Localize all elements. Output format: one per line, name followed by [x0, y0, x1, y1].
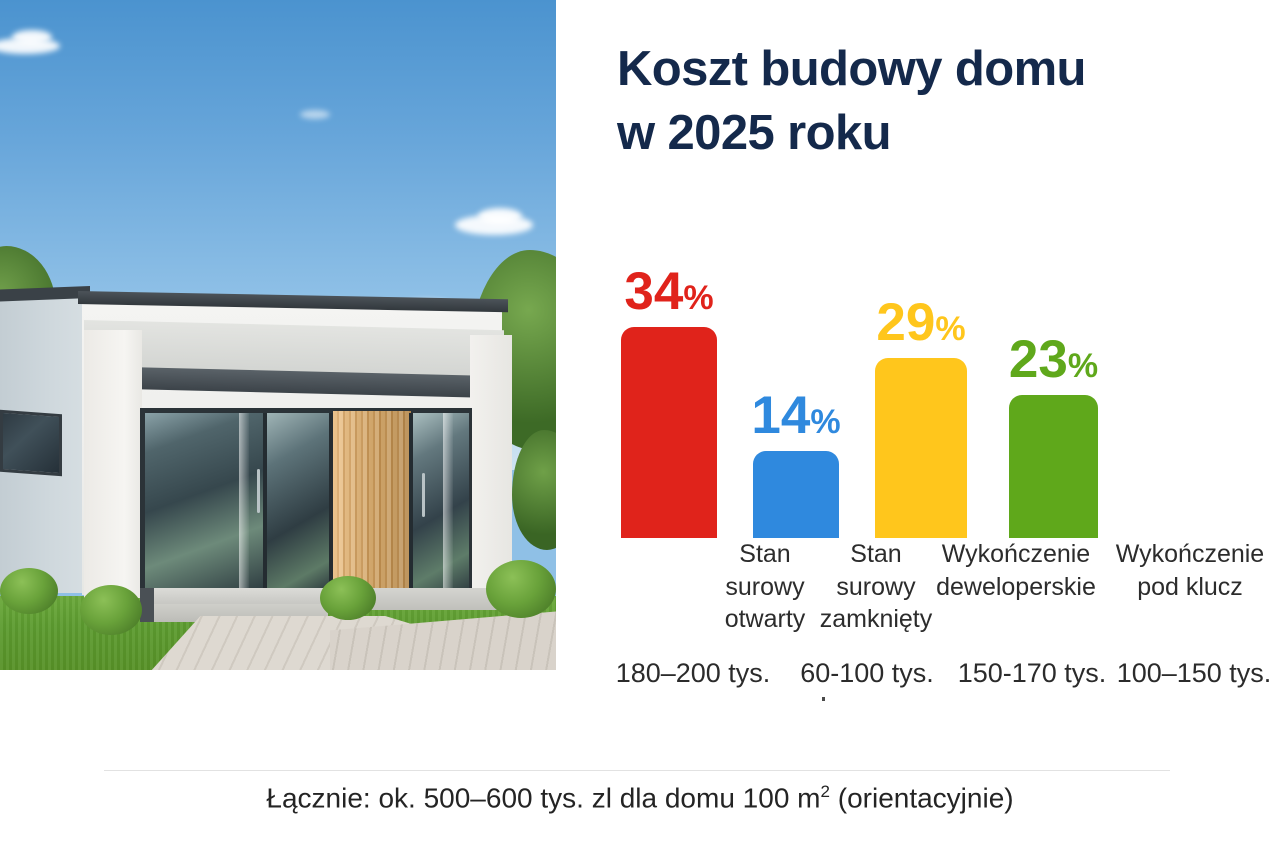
- bar-category-label-line: surowy: [813, 571, 939, 604]
- footer-divider: [104, 770, 1170, 771]
- side-window: [0, 410, 62, 477]
- bar-value-number: 34: [624, 262, 683, 321]
- title-line-2: w 2025 roku: [617, 102, 1257, 166]
- bar-price-annotation: 180–200 tys.: [600, 658, 786, 689]
- wall-pillar-left: [84, 330, 142, 598]
- footer-prefix: Łącznie: ok. 500–600 tys. zl dla domu 10…: [266, 782, 820, 813]
- bar-category-label-line: Stan: [813, 538, 939, 571]
- boxwood-shrub: [0, 568, 58, 614]
- bar-category-label-line: pod klucz: [1108, 571, 1272, 604]
- cloud-icon: [12, 30, 52, 44]
- bar-column[interactable]: 23%: [1009, 395, 1098, 538]
- page-title: Koszt budowy domu w 2025 roku: [617, 38, 1257, 165]
- footer-suffix: (orientacyjnie): [830, 782, 1014, 813]
- percent-sign-icon: %: [1068, 347, 1098, 385]
- sliding-glass-facade: [140, 408, 472, 593]
- bar-price-annotation: 60-100 tys.: [786, 658, 948, 689]
- bar-value-label: 34%: [624, 265, 713, 327]
- cloud-icon: [478, 208, 522, 224]
- bar-category-label: Wykończeniedeweloperskie: [922, 538, 1110, 603]
- chart-bar[interactable]: [753, 451, 839, 538]
- window-mullion: [263, 413, 267, 592]
- bar-column[interactable]: 34%: [621, 327, 717, 538]
- boxwood-shrub: [486, 560, 556, 618]
- bar-column[interactable]: 14%: [753, 451, 839, 538]
- footer-summary: Łącznie: ok. 500–600 tys. zl dla domu 10…: [0, 782, 1280, 814]
- bar-value-label: 23%: [1009, 333, 1098, 395]
- category-labels: StansurowyotwartyStansurowyzamkniętyWyko…: [600, 538, 1272, 648]
- wall-pillar-right: [470, 335, 512, 593]
- infographic-root: Koszt budowy domu w 2025 roku 34%14%29%2…: [0, 0, 1280, 853]
- bar-price-annotation: 150-170 tys.: [948, 658, 1116, 689]
- stray-dot: [822, 697, 825, 701]
- glass-pane: [267, 413, 331, 592]
- boxwood-shrub: [80, 585, 142, 635]
- glass-reflection: [239, 413, 249, 592]
- bar-value-number: 14: [751, 386, 810, 445]
- chart-bar[interactable]: [1009, 395, 1098, 538]
- boxwood-shrub: [320, 576, 376, 620]
- title-line-1: Koszt budowy domu: [617, 38, 1257, 102]
- window-mullion: [409, 413, 413, 592]
- house-photo: [0, 0, 556, 670]
- chart-bar[interactable]: [875, 358, 967, 538]
- bar-chart: 34%14%29%23%: [600, 228, 1270, 538]
- bar-category-label-line: Wykończenie: [1108, 538, 1272, 571]
- bar-value-label: 29%: [876, 296, 965, 358]
- entry-step-side: [140, 588, 154, 622]
- door-handle: [257, 469, 260, 513]
- bar-category-label-line: zamknięty: [813, 603, 939, 636]
- wood-slat-entrance-panel: [333, 409, 411, 593]
- cloud-icon: [300, 110, 330, 119]
- price-annotations: 180–200 tys.60-100 tys.150-170 tys.100–1…: [600, 658, 1272, 698]
- entry-step-upper: [140, 588, 328, 604]
- bar-category-label-line: deweloperskie: [922, 571, 1110, 604]
- bar-price-annotation: 100–150 tys.: [1116, 658, 1272, 689]
- percent-sign-icon: %: [810, 403, 840, 441]
- bar-value-number: 23: [1009, 330, 1068, 389]
- bar-value-number: 29: [876, 293, 935, 352]
- bar-column[interactable]: 29%: [875, 358, 967, 538]
- chart-bar[interactable]: [621, 327, 717, 538]
- footer-superscript: 2: [821, 782, 830, 801]
- door-handle: [422, 473, 425, 517]
- percent-sign-icon: %: [683, 279, 713, 317]
- bar-value-label: 14%: [751, 389, 840, 451]
- percent-sign-icon: %: [935, 310, 965, 348]
- bar-category-label: Wykończeniepod klucz: [1108, 538, 1272, 603]
- bar-category-label: Stansurowyzamknięty: [813, 538, 939, 636]
- glass-reflection: [443, 413, 453, 592]
- bar-category-label-line: Wykończenie: [922, 538, 1110, 571]
